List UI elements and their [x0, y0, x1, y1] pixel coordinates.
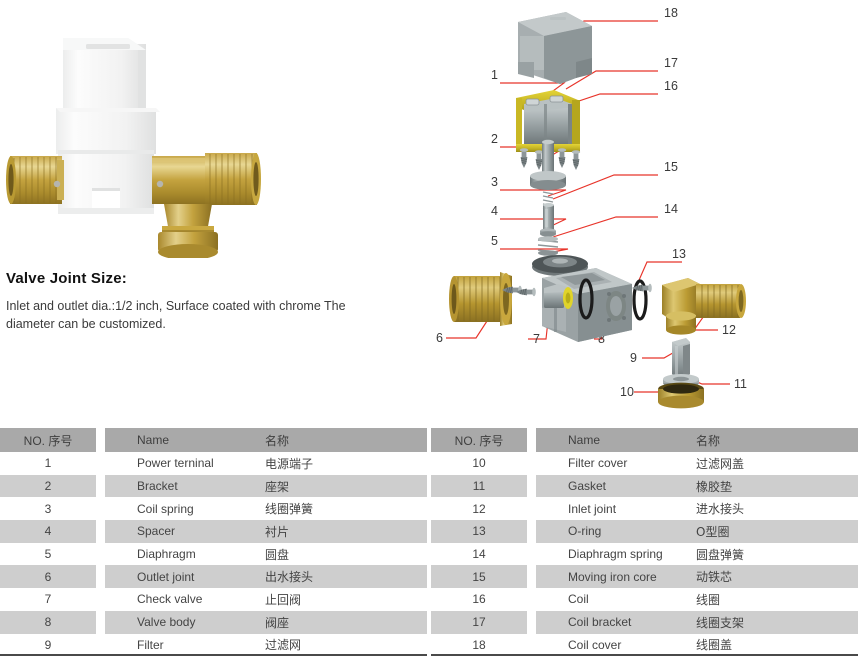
cell-name: Spacer: [105, 524, 255, 538]
column-gap: [96, 588, 105, 611]
table-header-row: NO. 序号 Name 名称: [431, 428, 858, 452]
cell-no: 4: [0, 524, 96, 538]
table-row: 6Outlet joint出水接头: [0, 565, 427, 588]
cell-no: 3: [0, 502, 96, 516]
callout-11: 11: [734, 377, 747, 391]
spec-title: Valve Joint Size:: [6, 270, 351, 287]
column-gap: [96, 543, 105, 566]
photo-valve-housing: [56, 108, 160, 214]
spec-body: Inlet and outlet dia.:1/2 inch, Surface …: [6, 297, 351, 333]
product-spec-page: Valve Joint Size: Inlet and outlet dia.:…: [0, 0, 858, 652]
callout-10: 10: [620, 385, 634, 399]
table-row: 1Power terninal电源端子: [0, 452, 427, 475]
table-row: 10Filter cover过滤网盖: [431, 452, 858, 475]
callout-4: 4: [491, 204, 498, 218]
cell-cn: 圆盘: [255, 546, 427, 563]
table-row: 2Bracket座架: [0, 475, 427, 498]
part-filter: [672, 338, 690, 380]
column-gap: [96, 475, 105, 498]
callout-9: 9: [630, 351, 637, 365]
callout-12: 12: [722, 323, 736, 337]
callout-13: 13: [672, 247, 686, 261]
header-cn: 名称: [255, 432, 427, 449]
cell-name: Gasket: [536, 479, 686, 493]
cell-cn: 橡胶垫: [686, 478, 858, 495]
cell-name: Coil cover: [536, 638, 686, 652]
callout-16: 16: [664, 79, 678, 93]
cell-cn: 动铁芯: [686, 568, 858, 585]
cell-no: 5: [0, 547, 96, 561]
column-gap: [96, 452, 105, 475]
table-bottom-rule: [0, 654, 427, 656]
column-gap: [527, 520, 536, 543]
column-gap: [527, 497, 536, 520]
cell-cn: 过滤网: [255, 636, 427, 653]
column-gap: [527, 452, 536, 475]
photo-outlet-fitting: [6, 156, 64, 204]
column-gap: [527, 475, 536, 498]
table-row: 18Coil cover线圈盖: [431, 634, 858, 656]
callout-3: 3: [491, 175, 498, 189]
column-gap: [527, 565, 536, 588]
cell-name: Diaphragm: [105, 547, 255, 561]
header-cn: 名称: [686, 432, 858, 449]
cell-no: 6: [0, 570, 96, 584]
part-filter-cover: [658, 383, 704, 409]
cell-cn: 线圈弹簧: [255, 500, 427, 517]
cell-name: Diaphragm spring: [536, 547, 686, 561]
cell-name: Filter: [105, 638, 255, 652]
cell-name: O-ring: [536, 524, 686, 538]
cell-no: 13: [431, 524, 527, 538]
callout-14: 14: [664, 202, 678, 216]
table-header-row: NO. 序号 Name 名称: [0, 428, 427, 452]
table-row: 16Coil线圈: [431, 588, 858, 611]
table-bottom-rule: [431, 654, 858, 656]
cell-no: 11: [431, 479, 527, 493]
table-row: 7Check valve止回阀: [0, 588, 427, 611]
exploded-diagram: 18 17 16 1 2 15 3 14 4 5 6 7 8 13 12 9 1…: [400, 0, 858, 415]
cell-cn: 进水接头: [686, 500, 858, 517]
column-gap: [527, 611, 536, 634]
photo-coil-cover: [63, 38, 146, 116]
callout-18: 18: [664, 6, 678, 20]
column-gap: [96, 520, 105, 543]
header-no: NO. 序号: [0, 432, 96, 449]
cell-no: 10: [431, 456, 527, 470]
cell-name: Outlet joint: [105, 570, 255, 584]
cell-name: Coil bracket: [536, 615, 686, 629]
table-row: 3Coil spring线圈弹簧: [0, 497, 427, 520]
cell-cn: O型圈: [686, 523, 858, 540]
callout-15: 15: [664, 160, 678, 174]
table-row: 12Inlet joint进水接头: [431, 497, 858, 520]
table-row: 4Spacer衬片: [0, 520, 427, 543]
cell-no: 16: [431, 592, 527, 606]
cell-no: 7: [0, 592, 96, 606]
table-row: 17Coil bracket线圈支架: [431, 611, 858, 634]
column-gap: [96, 497, 105, 520]
spec-block: Valve Joint Size: Inlet and outlet dia.:…: [6, 270, 351, 333]
part-outlet-joint: [449, 272, 522, 326]
table-row: 8Valve body阀座: [0, 611, 427, 634]
part-diaphragm-spring: [538, 236, 558, 256]
cell-no: 15: [431, 570, 527, 584]
product-photo: [0, 8, 270, 258]
cell-cn: 线圈盖: [686, 636, 858, 653]
cell-name: Check valve: [105, 592, 255, 606]
cell-name: Coil spring: [105, 502, 255, 516]
part-spacer: [540, 228, 556, 236]
column-gap: [527, 634, 536, 656]
cell-no: 17: [431, 615, 527, 629]
column-gap: [96, 611, 105, 634]
cell-name: Coil: [536, 592, 686, 606]
cell-name: Inlet joint: [536, 502, 686, 516]
cell-cn: 线圈支架: [686, 614, 858, 631]
table-row: 13O-ringO型圈: [431, 520, 858, 543]
cell-no: 8: [0, 615, 96, 629]
cell-cn: 圆盘弹簧: [686, 546, 858, 563]
callout-5: 5: [491, 234, 498, 248]
column-gap: [527, 543, 536, 566]
cell-cn: 衬片: [255, 523, 427, 540]
table-row: 15Moving iron core动铁芯: [431, 565, 858, 588]
cell-name: Moving iron core: [536, 570, 686, 584]
cell-no: 12: [431, 502, 527, 516]
header-name: Name: [536, 433, 686, 447]
table-row: 11Gasket橡胶垫: [431, 475, 858, 498]
column-gap: [96, 565, 105, 588]
callout-1: 1: [491, 68, 498, 82]
table-row: 5Diaphragm圆盘: [0, 543, 427, 566]
cell-name: Bracket: [105, 479, 255, 493]
callout-7: 7: [533, 332, 540, 346]
column-gap: [527, 428, 536, 452]
cell-no: 2: [0, 479, 96, 493]
cell-cn: 阀座: [255, 614, 427, 631]
parts-table-left: NO. 序号 Name 名称 1Power terninal电源端子 2Brac…: [0, 428, 427, 656]
column-gap: [527, 588, 536, 611]
cell-no: 14: [431, 547, 527, 561]
header-name: Name: [105, 433, 255, 447]
part-coil-cover: [518, 12, 592, 84]
column-gap: [96, 634, 105, 656]
cell-cn: 止回阀: [255, 591, 427, 608]
cell-name: Filter cover: [536, 456, 686, 470]
cell-no: 9: [0, 638, 96, 652]
column-gap: [96, 428, 105, 452]
cell-cn: 过滤网盖: [686, 455, 858, 472]
cell-cn: 电源端子: [255, 455, 427, 472]
cell-cn: 座架: [255, 478, 427, 495]
table-row: 9Filter过滤网: [0, 634, 427, 656]
table-row: 14Diaphragm spring圆盘弹簧: [431, 543, 858, 566]
callout-6: 6: [436, 331, 443, 345]
parts-table-right: NO. 序号 Name 名称 10Filter cover过滤网盖 11Gask…: [431, 428, 858, 656]
cell-no: 1: [0, 456, 96, 470]
cell-cn: 出水接头: [255, 568, 427, 585]
cell-name: Power terninal: [105, 456, 255, 470]
callout-17: 17: [664, 56, 678, 70]
photo-inlet-fitting: [152, 153, 261, 258]
cell-name: Valve body: [105, 615, 255, 629]
cell-no: 18: [431, 638, 527, 652]
cell-cn: 线圈: [686, 591, 858, 608]
header-no: NO. 序号: [431, 432, 527, 449]
callout-2: 2: [491, 132, 498, 146]
